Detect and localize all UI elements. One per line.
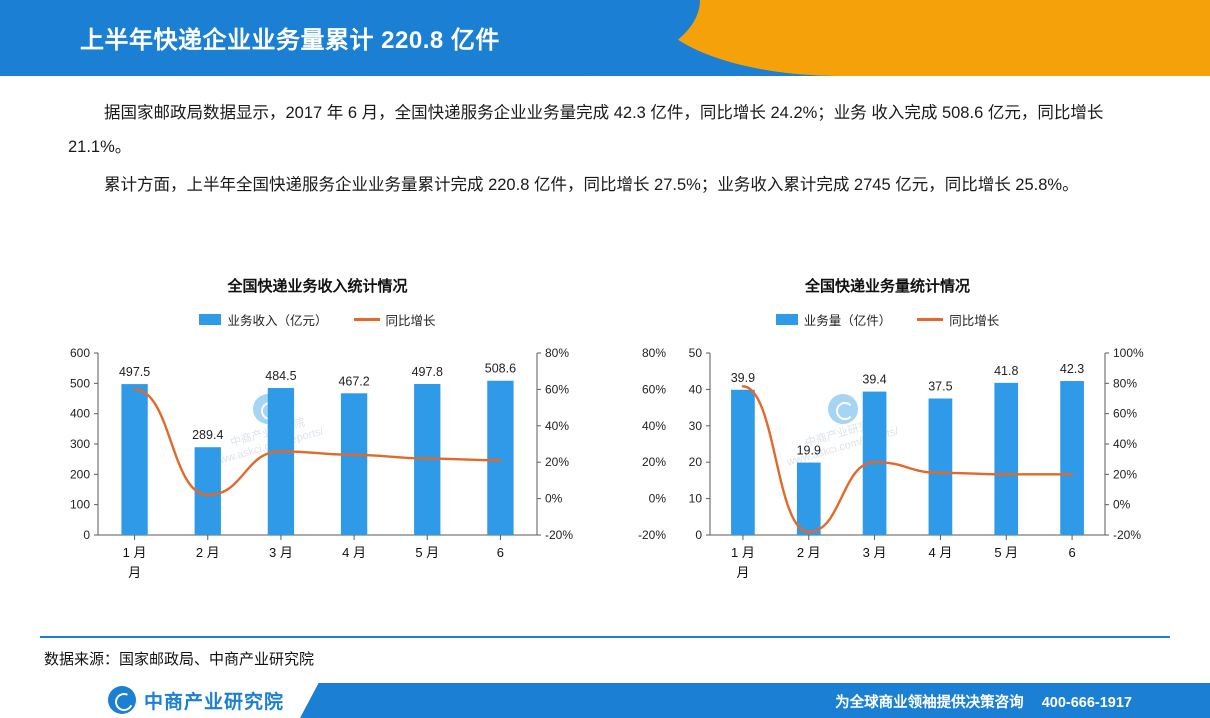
svg-text:497.5: 497.5 [119,365,150,379]
svg-text:20: 20 [689,455,703,469]
svg-text:80%: 80% [642,346,666,360]
svg-text:3 月: 3 月 [863,545,887,560]
svg-text:6: 6 [497,545,504,560]
svg-text:0%: 0% [1113,498,1131,512]
svg-text:20%: 20% [1113,467,1137,481]
svg-text:19.9: 19.9 [797,444,821,458]
svg-text:60%: 60% [642,382,666,396]
page-header: 上半年快递企业业务量累计 220.8 亿件 [0,0,1210,76]
svg-text:10: 10 [689,492,703,506]
svg-text:60%: 60% [545,382,569,396]
svg-text:0: 0 [83,528,90,542]
svg-text:100: 100 [70,498,90,512]
svg-text:39.9: 39.9 [731,371,755,385]
brand-logo-icon [108,686,136,714]
svg-text:50: 50 [689,346,703,360]
svg-text:400: 400 [70,407,90,421]
svg-text:40%: 40% [545,419,569,433]
svg-text:20%: 20% [642,455,666,469]
chart-volume-plot: 中商产业研究院 www.askci.com/reports/ 010203040… [610,339,1165,589]
svg-text:-20%: -20% [545,528,573,542]
svg-text:289.4: 289.4 [192,428,223,442]
svg-text:1 月: 1 月 [731,545,755,560]
svg-text:300: 300 [70,437,90,451]
svg-text:600: 600 [70,346,90,360]
legend-bar-swatch-icon [776,314,798,325]
svg-text:40%: 40% [642,419,666,433]
svg-text:100%: 100% [1113,346,1144,360]
svg-text:40%: 40% [1113,437,1137,451]
legend-item-line: 同比增长 [917,310,999,329]
chart-revenue-plot: 中商产业研究院 www.askci.com/reports/ 010020030… [40,339,595,589]
paragraph-1: 据国家邮政局数据显示，2017 年 6 月，全国快递服务企业业务量完成 42.3… [68,96,1148,164]
chart-revenue-title: 全国快递业务收入统计情况 [40,275,595,296]
svg-text:30: 30 [689,419,703,433]
svg-text:5 月: 5 月 [994,545,1018,560]
chart-revenue-legend: 业务收入（亿元） 同比增长 [40,310,595,329]
legend-bar-label: 业务收入（亿元） [227,310,327,329]
svg-text:月: 月 [736,565,749,580]
svg-text:0%: 0% [545,492,563,506]
footer-divider [40,636,1170,638]
chart-revenue-svg: 0100200300400500600-20%0%20%40%60%80%497… [40,339,595,589]
footer-phone: 400-666-1917 [1042,695,1132,711]
svg-text:60%: 60% [1113,407,1137,421]
source-note: 数据来源：国家邮政局、中商产业研究院 [44,648,314,669]
svg-text:4 月: 4 月 [928,545,952,560]
chart-volume: 全国快递业务量统计情况 业务量（亿件） 同比增长 中商产业研究院 www.ask… [610,275,1165,605]
svg-text:0%: 0% [649,492,667,506]
svg-text:40: 40 [689,382,703,396]
svg-text:2 月: 2 月 [797,545,821,560]
svg-text:467.2: 467.2 [338,374,369,388]
legend-bar-swatch-icon [199,314,221,325]
svg-text:3 月: 3 月 [269,545,293,560]
footer-blue-wedge [300,683,399,718]
svg-text:41.8: 41.8 [994,364,1018,378]
svg-text:500: 500 [70,376,90,390]
page-title: 上半年快递企业业务量累计 220.8 亿件 [80,20,500,55]
legend-line-swatch-icon [354,318,380,321]
svg-text:月: 月 [128,565,141,580]
svg-text:497.8: 497.8 [412,365,443,379]
svg-text:20%: 20% [545,455,569,469]
legend-line-label: 同比增长 [386,310,436,329]
svg-text:6: 6 [1068,545,1075,560]
paragraph-2: 累计方面，上半年全国快递服务企业业务量累计完成 220.8 亿件，同比增长 27… [68,168,1148,202]
legend-line-label: 同比增长 [949,310,999,329]
svg-text:5 月: 5 月 [415,545,439,560]
svg-text:42.3: 42.3 [1060,362,1084,376]
svg-text:484.5: 484.5 [265,369,296,383]
chart-volume-legend: 业务量（亿件） 同比增长 [610,310,1165,329]
svg-text:80%: 80% [545,346,569,360]
legend-bar-label: 业务量（亿件） [804,310,892,329]
svg-text:0: 0 [695,528,702,542]
svg-text:80%: 80% [1113,376,1137,390]
svg-text:37.5: 37.5 [928,380,952,394]
chart-volume-svg: 01020304050-20%0%20%40%60%80%-20%0%20%40… [610,339,1165,589]
legend-line-swatch-icon [917,318,943,321]
svg-text:200: 200 [70,467,90,481]
legend-item-bar: 业务收入（亿元） [199,310,327,329]
svg-text:508.6: 508.6 [485,362,516,376]
chart-volume-title: 全国快递业务量统计情况 [610,275,1165,296]
svg-text:-20%: -20% [638,528,666,542]
footer-contact: 为全球商业领袖提供决策咨询 400-666-1917 [835,691,1132,712]
chart-revenue: 全国快递业务收入统计情况 业务收入（亿元） 同比增长 中商产业研究院 www.a… [40,275,595,605]
svg-text:2 月: 2 月 [196,545,220,560]
svg-text:39.4: 39.4 [862,373,886,387]
svg-text:-20%: -20% [1113,528,1141,542]
footer-brand: 中商产业研究院 [108,686,284,714]
svg-text:1 月: 1 月 [123,545,147,560]
legend-item-line: 同比增长 [354,310,436,329]
svg-text:4 月: 4 月 [342,545,366,560]
footer-slogan: 为全球商业领袖提供决策咨询 [835,695,1024,711]
legend-item-bar: 业务量（亿件） [776,310,892,329]
brand-name: 中商产业研究院 [144,687,284,714]
